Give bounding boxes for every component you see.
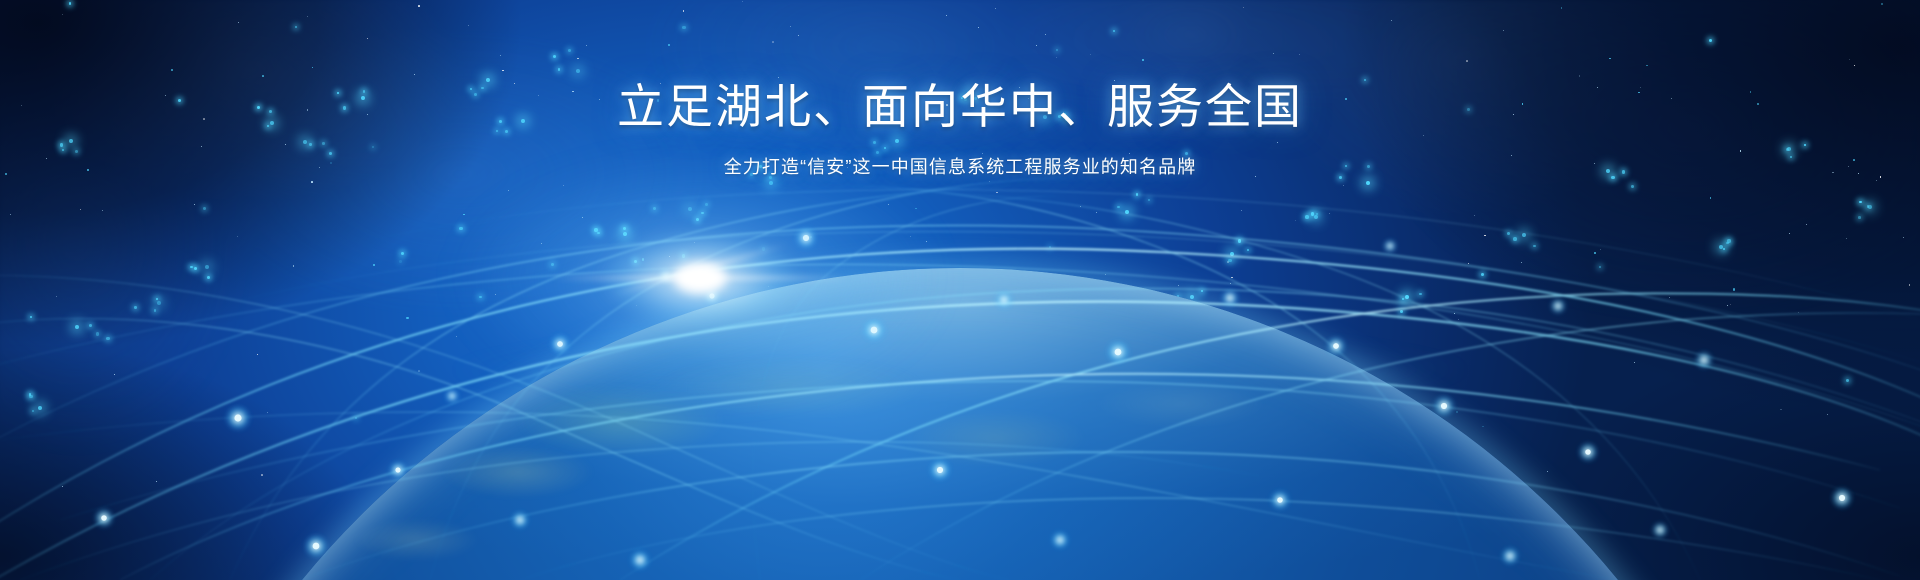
- banner-headline: 立足湖北、面向华中、服务全国: [0, 78, 1920, 136]
- banner-subtitle: 全力打造“信安”这一中国信息系统工程服务业的知名品牌: [0, 154, 1920, 181]
- banner-text-block: 立足湖北、面向华中、服务全国 全力打造“信安”这一中国信息系统工程服务业的知名品…: [0, 78, 1920, 181]
- hero-banner: 立足湖北、面向华中、服务全国 全力打造“信安”这一中国信息系统工程服务业的知名品…: [0, 0, 1920, 580]
- network-nodes: [94, 227, 1853, 570]
- light-burst-core: [674, 263, 726, 293]
